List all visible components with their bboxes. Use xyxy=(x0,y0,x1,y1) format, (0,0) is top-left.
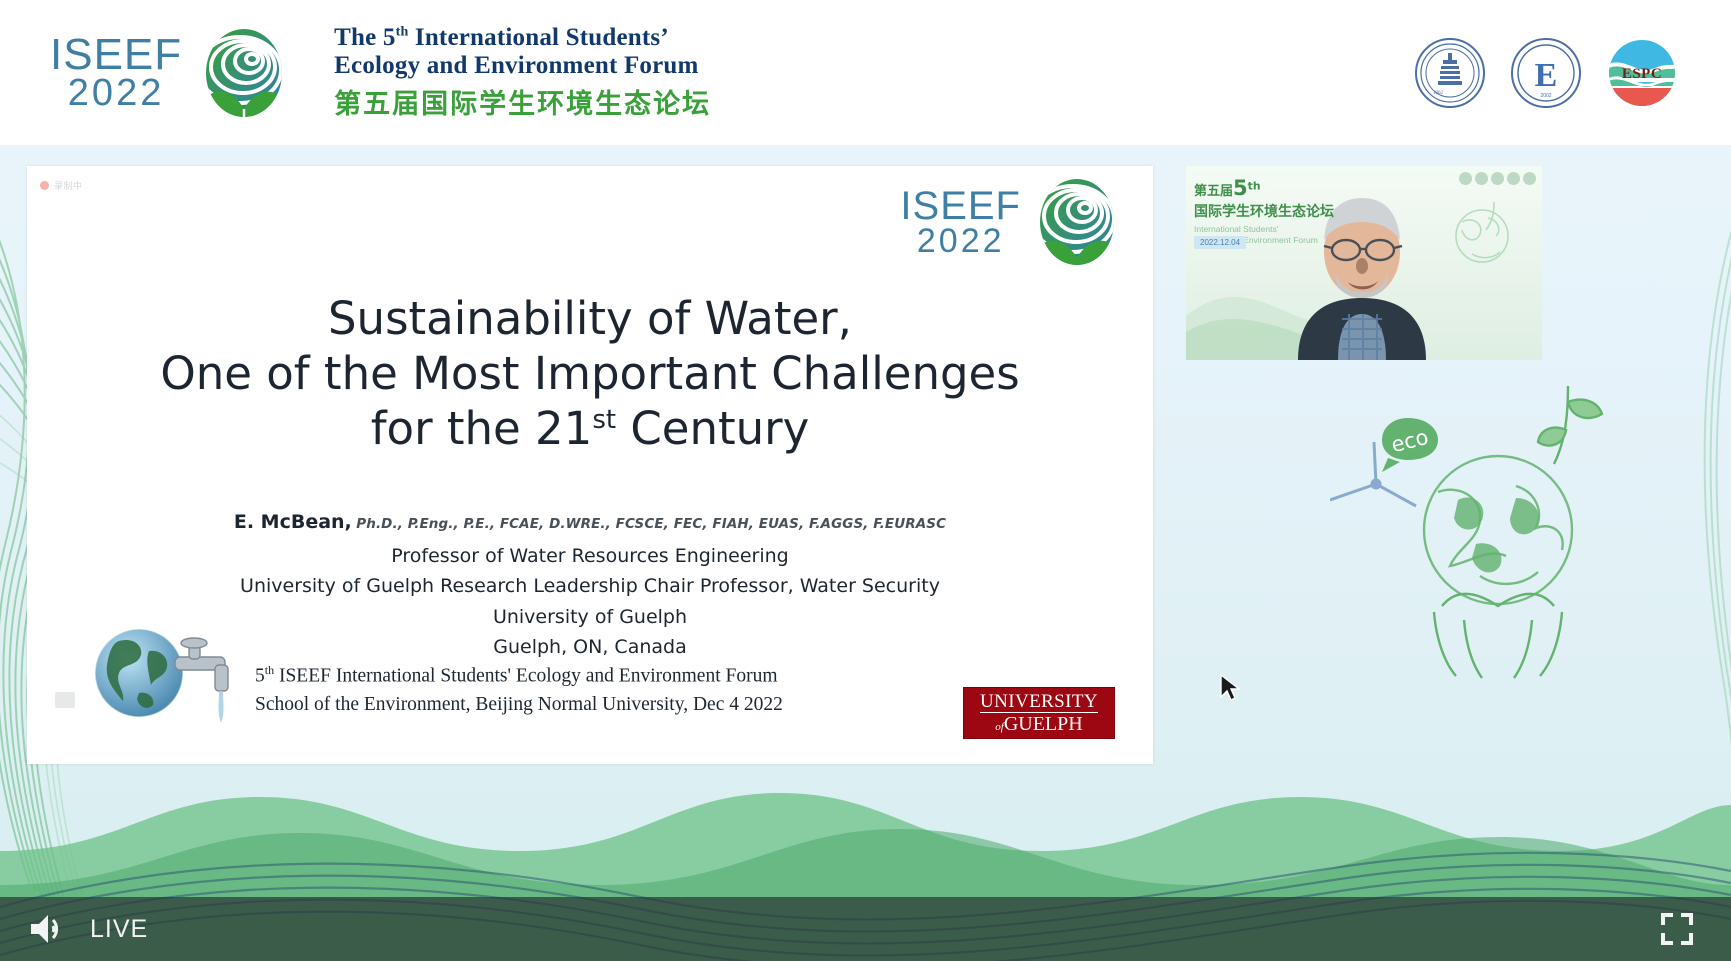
video-partner-icon-4 xyxy=(1507,172,1520,185)
player-control-bar: LIVE xyxy=(0,897,1731,961)
partner-seals-group: 1902 E 2002 xyxy=(1413,36,1731,110)
recording-dot-icon xyxy=(40,181,49,190)
broadcast-stage: eco ISEEF 2022 xyxy=(0,0,1731,961)
forum-header-bar: ISEEF 2022 xyxy=(0,0,1731,145)
presenter-credentials: Ph.D., P.Eng., P.E., FCAE, D.WRE., FCSCE… xyxy=(356,516,946,532)
fullscreen-corner-br xyxy=(1681,933,1693,945)
mouse-cursor xyxy=(1219,673,1241,703)
slide-iseef-wordmark: ISEEF 2022 xyxy=(900,187,1021,257)
svg-text:ESPC: ESPC xyxy=(1622,66,1662,82)
svg-text:1902: 1902 xyxy=(1433,91,1444,96)
beijing-normal-university-e-seal-icon: E 2002 xyxy=(1509,36,1583,110)
slide-footer-line1: 5th ISEEF International Students' Ecolog… xyxy=(255,662,783,691)
video-partner-icons xyxy=(1459,172,1536,185)
slide-title-line1: Sustainability of Water, xyxy=(27,292,1153,347)
video-brand-cn-line1: 第五届5th xyxy=(1194,176,1334,200)
slide-iseef-wordmark-line1: ISEEF xyxy=(900,187,1021,225)
fullscreen-corner-tr xyxy=(1681,913,1693,925)
guelph-logo-line2: ofGUELPH xyxy=(995,714,1082,735)
slide-title: Sustainability of Water, One of the Most… xyxy=(27,292,1153,457)
iseef-wordmark-line2: 2022 xyxy=(50,75,182,111)
slide-footer-line2: School of the Environment, Beijing Norma… xyxy=(255,691,783,719)
guelph-logo-line1: UNIVERSITY xyxy=(980,692,1098,713)
fullscreen-corner-tl xyxy=(1661,913,1673,925)
eco-globe-illustration: eco xyxy=(1330,380,1660,680)
beijing-normal-university-seal-icon: 1902 xyxy=(1413,36,1487,110)
fullscreen-expand-icon[interactable] xyxy=(1661,913,1693,945)
speaker-volume-icon[interactable] xyxy=(28,912,68,946)
recording-label: 录制中 xyxy=(54,179,83,192)
presentation-slide[interactable]: 录制中 ISEEF 2022 xyxy=(27,166,1153,764)
presenter-name: E. McBean, xyxy=(234,511,352,533)
video-date-badge: 2022.12.04 xyxy=(1194,236,1246,249)
live-status-label: LIVE xyxy=(90,915,148,944)
slide-iseef-wordmark-line2: 2022 xyxy=(900,225,1021,257)
video-partner-icon-2 xyxy=(1475,172,1488,185)
slide-title-line2: One of the Most Important Challenges xyxy=(27,347,1153,402)
svg-text:2002: 2002 xyxy=(1540,93,1551,99)
slide-iseef-logo: ISEEF 2022 xyxy=(900,174,1123,270)
presenter-byline: E. McBean, Ph.D., P.Eng., P.E., FCAE, D.… xyxy=(27,511,1153,533)
forum-title-block: The 5th International Students’ Ecology … xyxy=(334,24,711,121)
slide-globe-logo-icon xyxy=(1031,174,1123,270)
presenter-affiliation-2: University of Guelph Research Leadership… xyxy=(27,575,1153,597)
video-brand-cn-line2: 国际学生环境生态论坛 xyxy=(1194,201,1334,221)
university-of-guelph-logo: UNIVERSITY ofGUELPH xyxy=(963,687,1115,739)
slide-notes-button[interactable] xyxy=(55,692,75,708)
forum-title-en-line2: Ecology and Environment Forum xyxy=(334,52,711,80)
fullscreen-corner-bl xyxy=(1661,933,1673,945)
header-logo-group: ISEEF 2022 xyxy=(0,23,711,123)
forum-title-en-line1: The 5th International Students’ xyxy=(334,24,711,52)
video-partner-icon-5 xyxy=(1523,172,1536,185)
video-partner-icon-1 xyxy=(1459,172,1472,185)
svg-text:E: E xyxy=(1535,57,1558,94)
iseef-wordmark: ISEEF 2022 xyxy=(50,34,182,112)
iseef-wordmark-line1: ISEEF xyxy=(50,34,182,76)
presenter-affiliation-1: Professor of Water Resources Engineering xyxy=(27,545,1153,567)
recording-indicator: 录制中 xyxy=(40,179,83,192)
video-partner-icon-3 xyxy=(1491,172,1504,185)
slide-footer-text: 5th ISEEF International Students' Ecolog… xyxy=(255,662,783,719)
water-tap-globe-icon xyxy=(89,621,244,726)
forum-title-cn: 第五届国际学生环境生态论坛 xyxy=(334,82,711,121)
speaker-video-tile[interactable]: 第五届5th 国际学生环境生态论坛 International Students… xyxy=(1186,166,1542,360)
espc-logo-icon: ESPC xyxy=(1605,36,1679,110)
slide-title-line3: for the 21st Century xyxy=(27,402,1153,457)
video-forum-branding: 第五届5th 国际学生环境生态论坛 International Students… xyxy=(1194,176,1334,245)
iseef-globe-logo-icon xyxy=(196,23,292,123)
